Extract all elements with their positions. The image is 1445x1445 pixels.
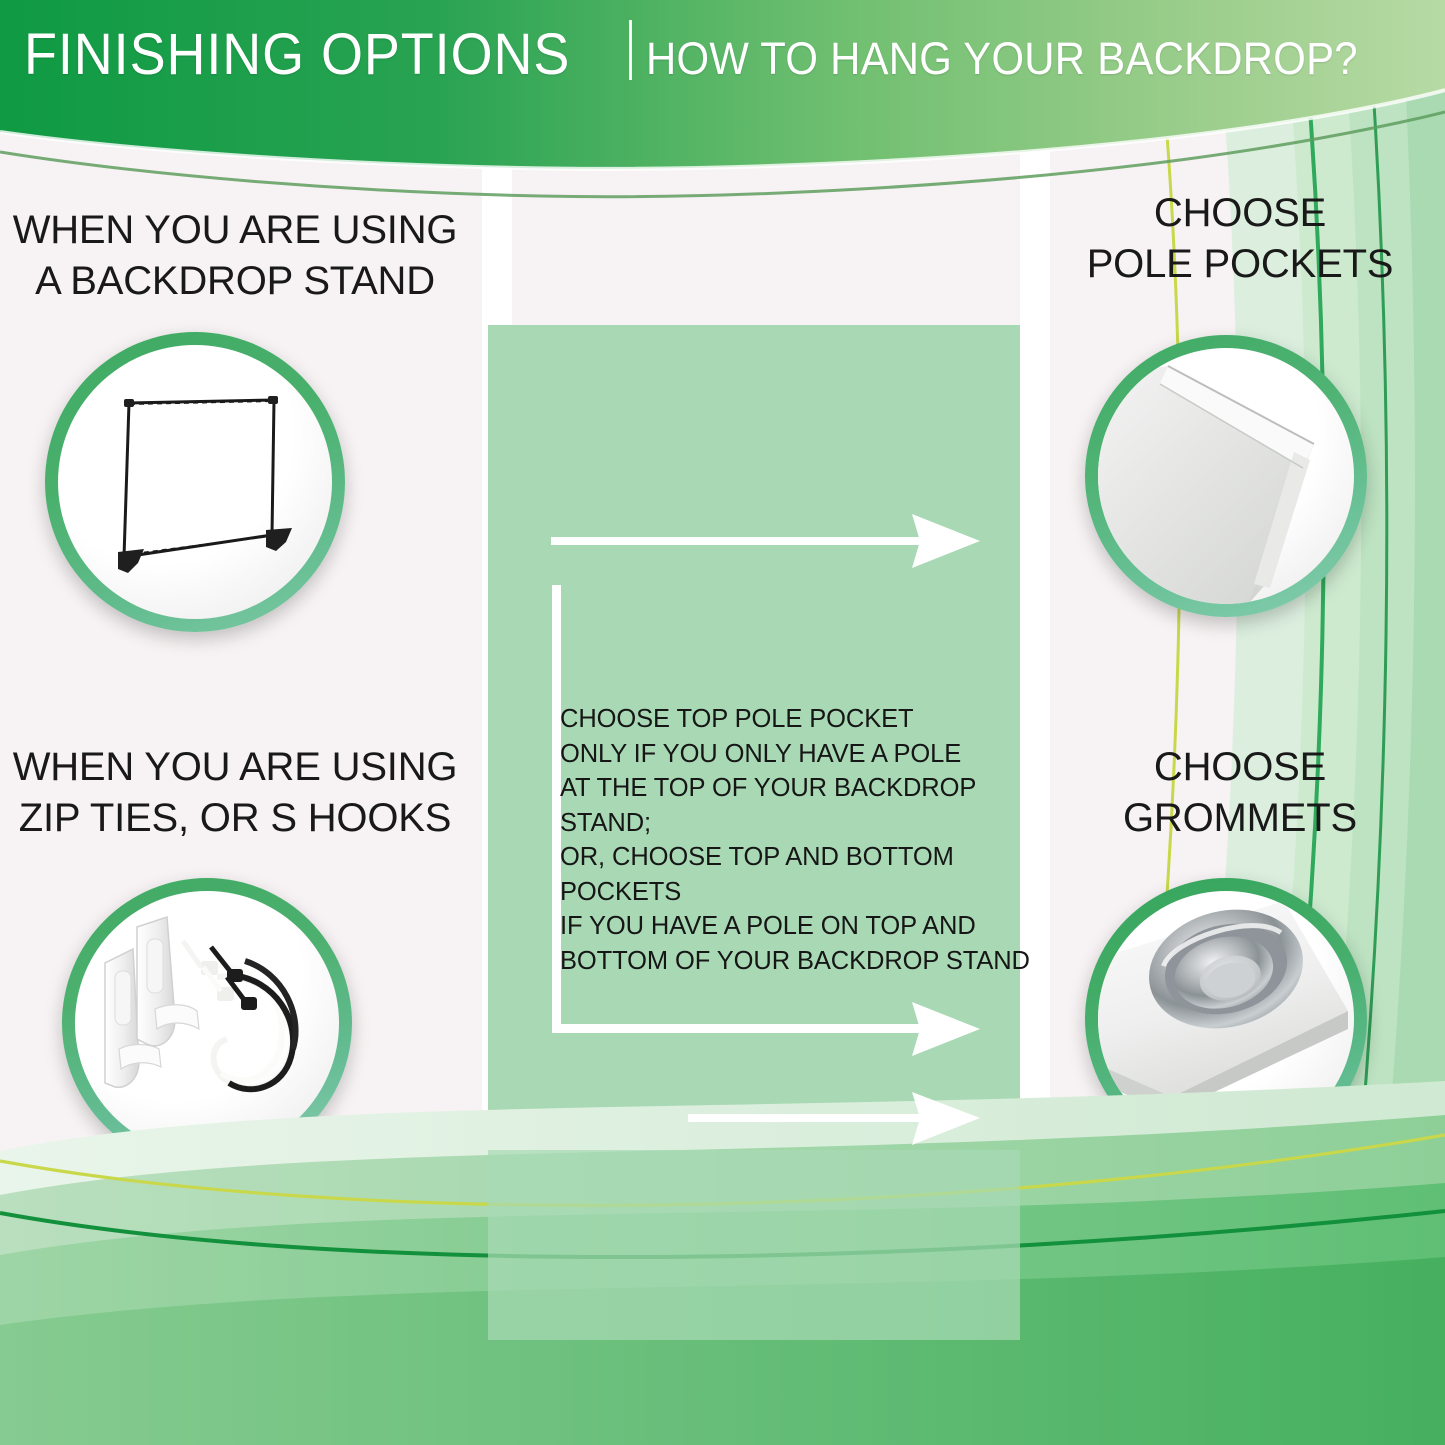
backdrop-stand-photo [58,345,332,619]
header-title-group: FINISHING OPTIONS HOW TO HANG YOUR BACKD… [24,14,1412,88]
label-choose-grommets: CHOOSE GROMMETS [1040,742,1440,844]
header-title-main: FINISHING OPTIONS [24,21,570,88]
image-circle-pole-pocket [1085,335,1367,617]
pole-pocket-photo [1098,348,1354,604]
center-panel-overlay-bottom [488,1150,1020,1340]
infographic-canvas: FINISHING OPTIONS HOW TO HANG YOUR BACKD… [0,0,1445,1445]
header-title-divider [629,20,632,80]
label-when-using-backdrop-stand: WHEN YOU ARE USING A BACKDROP STAND [0,205,470,307]
folded-fabric-hem-icon [1098,348,1354,604]
center-instruction-text: CHOOSE TOP POLE POCKET ONLY IF YOU ONLY … [560,702,1030,978]
header-title-sub: HOW TO HANG YOUR BACKDROP? [646,33,1358,85]
header-banner: FINISHING OPTIONS HOW TO HANG YOUR BACKD… [0,0,1445,210]
backdrop-stand-frame-icon [58,345,332,619]
label-choose-pole-pockets: CHOOSE POLE POCKETS [1040,188,1440,290]
image-circle-backdrop-stand [45,332,345,632]
label-when-using-zip-ties: WHEN YOU ARE USING ZIP TIES, OR S HOOKS [0,742,470,844]
